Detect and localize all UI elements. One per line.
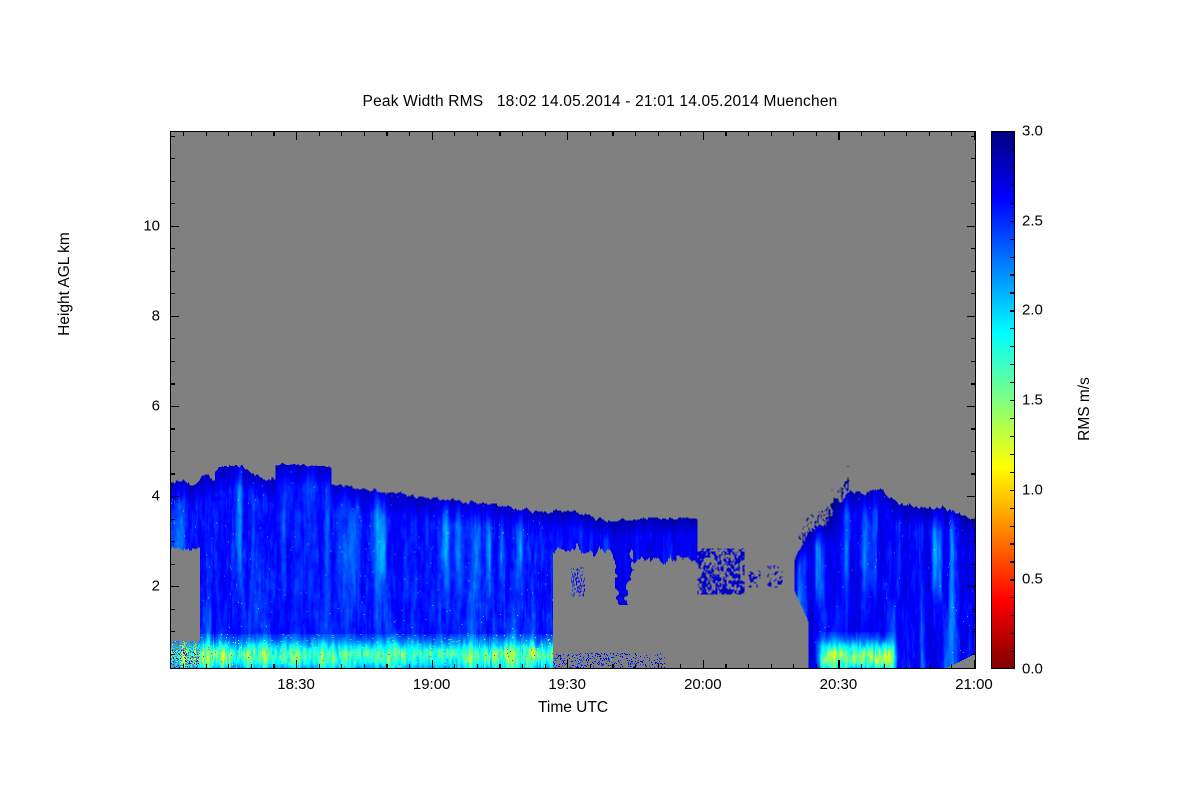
x-axis-minor-tick (206, 131, 207, 136)
colorbar-minor-tick (1010, 597, 1015, 598)
colorbar-tick-label: 0.0 (1022, 661, 1043, 678)
y-axis-minor-tick (971, 361, 976, 362)
x-axis-label: Time UTC (170, 699, 976, 717)
colorbar-tick-label: 2.5 (1022, 212, 1043, 229)
y-axis-minor-tick (170, 361, 175, 362)
x-axis-minor-tick (341, 664, 342, 669)
colorbar-minor-tick (1010, 149, 1015, 150)
x-axis-minor-tick (545, 664, 546, 669)
colorbar-minor-tick (1010, 561, 1015, 562)
colorbar-minor-tick (1010, 400, 1015, 401)
colorbar-minor-tick (1010, 579, 1015, 580)
x-axis-major-tick (432, 660, 433, 669)
y-axis-minor-tick (971, 338, 976, 339)
y-axis-minor-tick (170, 271, 175, 272)
x-axis-minor-tick (386, 131, 387, 136)
y-axis-minor-tick (170, 631, 175, 632)
figure-canvas: Peak Width RMS 18:02 14.05.2014 - 21:01 … (0, 0, 1200, 800)
colorbar-minor-tick (1010, 651, 1015, 652)
y-axis-minor-tick (170, 203, 175, 204)
x-axis-minor-tick (884, 131, 885, 136)
x-axis-minor-tick (477, 131, 478, 136)
y-axis-minor-tick (971, 293, 976, 294)
colorbar-minor-tick (1010, 328, 1015, 329)
y-axis-major-tick (967, 406, 976, 407)
y-axis-minor-tick (170, 473, 175, 474)
colorbar-tick-label: 2.0 (1022, 302, 1043, 319)
x-axis-minor-tick (590, 131, 591, 136)
y-axis-minor-tick (170, 451, 175, 452)
colorbar-minor-tick (1010, 436, 1015, 437)
x-axis-minor-tick (771, 664, 772, 669)
y-axis-minor-tick (971, 541, 976, 542)
x-axis-major-tick (296, 660, 297, 669)
heatmap-plot-area[interactable] (170, 131, 976, 669)
x-axis-major-tick (296, 131, 297, 140)
y-axis-minor-tick (170, 541, 175, 542)
x-axis-minor-tick (748, 664, 749, 669)
x-axis-minor-tick (454, 131, 455, 136)
y-axis-tick-label: 10 (122, 217, 160, 234)
colorbar-minor-tick (1010, 508, 1015, 509)
y-axis-minor-tick (170, 428, 175, 429)
y-axis-minor-tick (170, 383, 175, 384)
y-axis-minor-tick (971, 158, 976, 159)
y-axis-major-tick (170, 496, 179, 497)
y-axis-minor-tick (170, 158, 175, 159)
x-axis-minor-tick (658, 664, 659, 669)
x-axis-minor-tick (838, 664, 839, 669)
colorbar-minor-tick (1010, 167, 1015, 168)
y-axis-minor-tick (170, 564, 175, 565)
x-axis-minor-tick (929, 664, 930, 669)
x-axis-minor-tick (906, 131, 907, 136)
colorbar-minor-tick (1010, 633, 1015, 634)
colorbar-minor-tick (1010, 490, 1015, 491)
x-axis-minor-tick (409, 664, 410, 669)
x-axis-minor-tick (319, 664, 320, 669)
colorbar-label: RMS m/s (1076, 309, 1094, 509)
colorbar-minor-tick (1010, 274, 1015, 275)
y-axis-minor-tick (971, 631, 976, 632)
x-axis-minor-tick (545, 131, 546, 136)
x-axis-minor-tick (454, 664, 455, 669)
y-axis-minor-tick (971, 203, 976, 204)
y-axis-major-tick (967, 586, 976, 587)
y-axis-minor-tick (170, 654, 175, 655)
x-axis-tick-label: 19:00 (413, 676, 451, 693)
colorbar-minor-tick (1010, 615, 1015, 616)
x-axis-tick-label: 19:30 (548, 676, 586, 693)
x-axis-minor-tick (703, 131, 704, 136)
x-axis-minor-tick (386, 664, 387, 669)
y-axis-minor-tick (170, 338, 175, 339)
colorbar-tick-label: 3.0 (1022, 123, 1043, 140)
y-axis-tick-label: 4 (122, 487, 160, 504)
colorbar-tick-label: 1.5 (1022, 392, 1043, 409)
x-axis-minor-tick (364, 664, 365, 669)
y-axis-minor-tick (971, 271, 976, 272)
colorbar-minor-tick (1010, 310, 1015, 311)
x-axis-minor-tick (680, 664, 681, 669)
x-axis-minor-tick (228, 664, 229, 669)
x-axis-minor-tick (793, 131, 794, 136)
y-axis-major-tick (967, 316, 976, 317)
y-axis-minor-tick (971, 451, 976, 452)
x-axis-tick-label: 20:00 (684, 676, 722, 693)
x-axis-minor-tick (251, 664, 252, 669)
x-axis-minor-tick (273, 664, 274, 669)
y-axis-tick-label: 8 (122, 307, 160, 324)
x-axis-minor-tick (183, 131, 184, 136)
x-axis-minor-tick (499, 664, 500, 669)
x-axis-minor-tick (951, 131, 952, 136)
y-axis-label: Height AGL km (56, 159, 74, 409)
x-axis-minor-tick (861, 664, 862, 669)
y-axis-major-tick (967, 226, 976, 227)
x-axis-minor-tick (838, 131, 839, 136)
x-axis-major-tick (432, 131, 433, 140)
x-axis-minor-tick (658, 131, 659, 136)
x-axis-minor-tick (612, 131, 613, 136)
x-axis-minor-tick (409, 131, 410, 136)
x-axis-tick-label: 18:30 (277, 676, 315, 693)
y-axis-minor-tick (971, 428, 976, 429)
x-axis-minor-tick (499, 131, 500, 136)
heatmap-image (171, 132, 975, 668)
x-axis-minor-tick (251, 131, 252, 136)
x-axis-minor-tick (341, 131, 342, 136)
y-axis-major-tick (170, 226, 179, 227)
y-axis-major-tick (967, 496, 976, 497)
colorbar-minor-tick (1010, 418, 1015, 419)
y-axis-minor-tick (971, 181, 976, 182)
y-axis-minor-tick (971, 519, 976, 520)
colorbar-minor-tick (1010, 543, 1015, 544)
colorbar-minor-tick (1010, 203, 1015, 204)
colorbar-minor-tick (1010, 185, 1015, 186)
colorbar-minor-tick (1010, 382, 1015, 383)
x-axis-minor-tick (635, 664, 636, 669)
y-axis-major-tick (170, 406, 179, 407)
x-axis-minor-tick (680, 131, 681, 136)
y-axis-minor-tick (170, 609, 175, 610)
y-axis-major-tick (170, 586, 179, 587)
x-axis-minor-tick (793, 664, 794, 669)
y-axis-minor-tick (170, 519, 175, 520)
colorbar-minor-tick (1010, 346, 1015, 347)
colorbar-minor-tick (1010, 221, 1015, 222)
page-title: Peak Width RMS 18:02 14.05.2014 - 21:01 … (0, 93, 1200, 111)
x-axis-minor-tick (183, 664, 184, 669)
x-axis-minor-tick (522, 664, 523, 669)
colorbar-minor-tick (1010, 472, 1015, 473)
x-axis-minor-tick (364, 131, 365, 136)
y-axis-minor-tick (971, 473, 976, 474)
y-axis-tick-label: 2 (122, 578, 160, 595)
x-axis-minor-tick (590, 664, 591, 669)
x-axis-minor-tick (635, 131, 636, 136)
y-axis-minor-tick (971, 136, 976, 137)
x-axis-minor-tick (273, 131, 274, 136)
x-axis-tick-label: 20:30 (820, 676, 858, 693)
colorbar-tick-label: 1.0 (1022, 481, 1043, 498)
colorbar-minor-tick (1010, 292, 1015, 293)
colorbar-minor-tick (1010, 239, 1015, 240)
x-axis-minor-tick (748, 131, 749, 136)
x-axis-minor-tick (703, 664, 704, 669)
x-axis-minor-tick (477, 664, 478, 669)
y-axis-minor-tick (971, 654, 976, 655)
y-axis-minor-tick (971, 609, 976, 610)
colorbar-minor-tick (1010, 526, 1015, 527)
y-axis-minor-tick (170, 181, 175, 182)
x-axis-tick-label: 21:00 (955, 676, 993, 693)
y-axis-minor-tick (971, 383, 976, 384)
y-axis-minor-tick (170, 136, 175, 137)
x-axis-minor-tick (725, 664, 726, 669)
x-axis-minor-tick (816, 131, 817, 136)
x-axis-minor-tick (929, 131, 930, 136)
colorbar-minor-tick (1010, 454, 1015, 455)
y-axis-minor-tick (170, 293, 175, 294)
y-axis-minor-tick (971, 248, 976, 249)
x-axis-minor-tick (906, 664, 907, 669)
y-axis-tick-label: 6 (122, 397, 160, 414)
colorbar-minor-tick (1010, 257, 1015, 258)
x-axis-minor-tick (725, 131, 726, 136)
x-axis-minor-tick (319, 131, 320, 136)
x-axis-minor-tick (612, 664, 613, 669)
colorbar-tick-label: 0.5 (1022, 571, 1043, 588)
x-axis-major-tick (567, 660, 568, 669)
x-axis-minor-tick (228, 131, 229, 136)
x-axis-minor-tick (884, 664, 885, 669)
x-axis-minor-tick (771, 131, 772, 136)
x-axis-major-tick (567, 131, 568, 140)
y-axis-minor-tick (170, 248, 175, 249)
y-axis-minor-tick (971, 564, 976, 565)
x-axis-minor-tick (951, 664, 952, 669)
x-axis-minor-tick (974, 664, 975, 669)
x-axis-minor-tick (861, 131, 862, 136)
x-axis-minor-tick (206, 664, 207, 669)
y-axis-major-tick (170, 316, 179, 317)
colorbar-minor-tick (1010, 364, 1015, 365)
x-axis-minor-tick (816, 664, 817, 669)
x-axis-minor-tick (522, 131, 523, 136)
